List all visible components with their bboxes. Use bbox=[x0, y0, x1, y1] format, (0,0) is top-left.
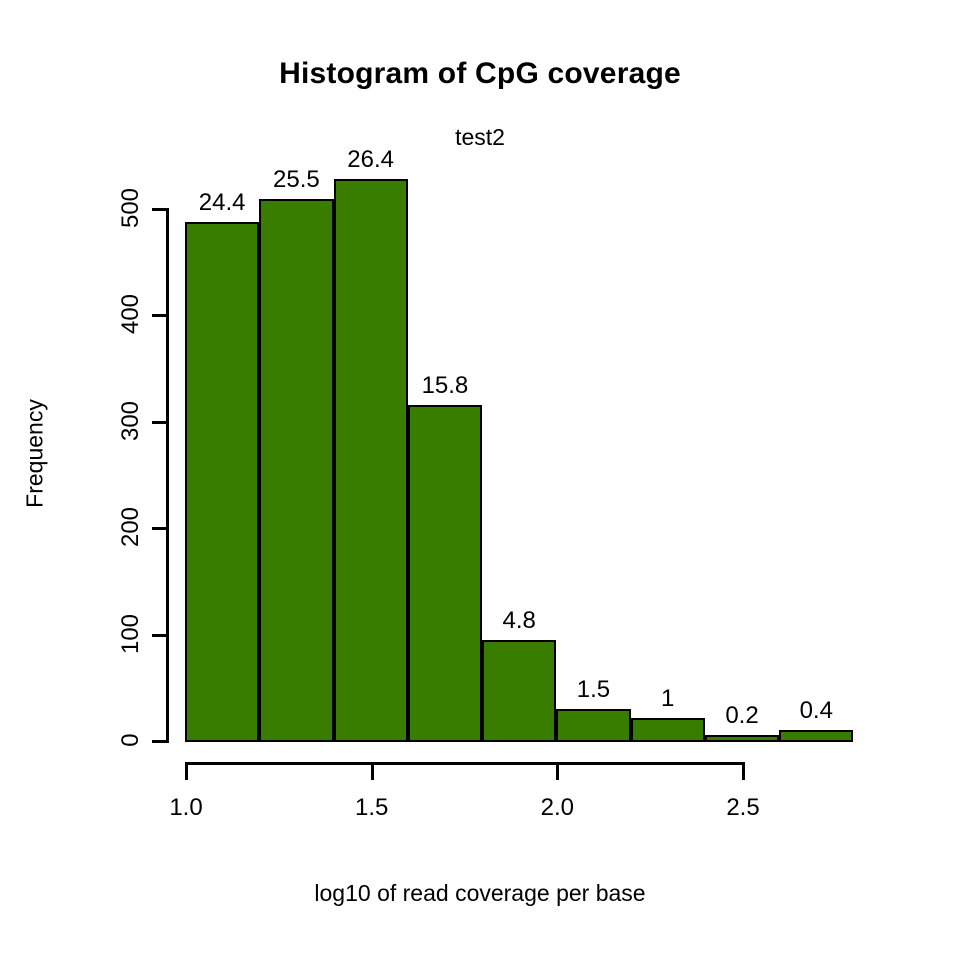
histogram-bar bbox=[408, 405, 482, 742]
histogram-bar bbox=[556, 709, 630, 742]
x-axis-tick-label: 2.0 bbox=[512, 794, 602, 822]
x-axis-tick bbox=[371, 765, 374, 780]
y-axis-tick bbox=[152, 421, 166, 424]
histogram-bar bbox=[631, 718, 705, 742]
x-axis-tick bbox=[556, 765, 559, 780]
y-axis-tick-label: 0 bbox=[117, 705, 145, 775]
y-axis-tick bbox=[152, 740, 166, 743]
y-axis-tick bbox=[152, 208, 166, 211]
x-axis-tick-label: 2.5 bbox=[698, 794, 788, 822]
x-axis-line bbox=[185, 762, 745, 765]
y-axis-tick bbox=[152, 634, 166, 637]
histogram-plot: Histogram of CpG coverage test2 Frequenc… bbox=[0, 0, 960, 960]
y-axis-tick-label: 300 bbox=[117, 386, 145, 456]
y-axis-tick-label: 100 bbox=[117, 599, 145, 669]
bar-value-label: 4.8 bbox=[474, 607, 564, 635]
y-axis-tick-label: 400 bbox=[117, 279, 145, 349]
histogram-bar bbox=[259, 199, 333, 742]
y-axis-tick-label: 500 bbox=[117, 173, 145, 243]
y-axis-tick-label: 200 bbox=[117, 492, 145, 562]
x-axis-tick bbox=[742, 765, 745, 780]
x-axis-tick-label: 1.0 bbox=[141, 794, 231, 822]
histogram-bar bbox=[334, 179, 408, 742]
y-axis-line bbox=[166, 208, 169, 743]
bar-value-label: 15.8 bbox=[400, 372, 490, 400]
histogram-bar bbox=[779, 730, 853, 742]
x-axis-tick bbox=[185, 765, 188, 780]
x-axis-tick-label: 1.5 bbox=[327, 794, 417, 822]
y-axis-tick bbox=[152, 314, 166, 317]
bar-value-label: 26.4 bbox=[326, 146, 416, 174]
histogram-bar bbox=[705, 735, 779, 742]
bar-value-label: 0.4 bbox=[771, 697, 861, 725]
histogram-bar bbox=[482, 640, 556, 742]
histogram-bar bbox=[185, 222, 259, 742]
y-axis-tick bbox=[152, 527, 166, 530]
